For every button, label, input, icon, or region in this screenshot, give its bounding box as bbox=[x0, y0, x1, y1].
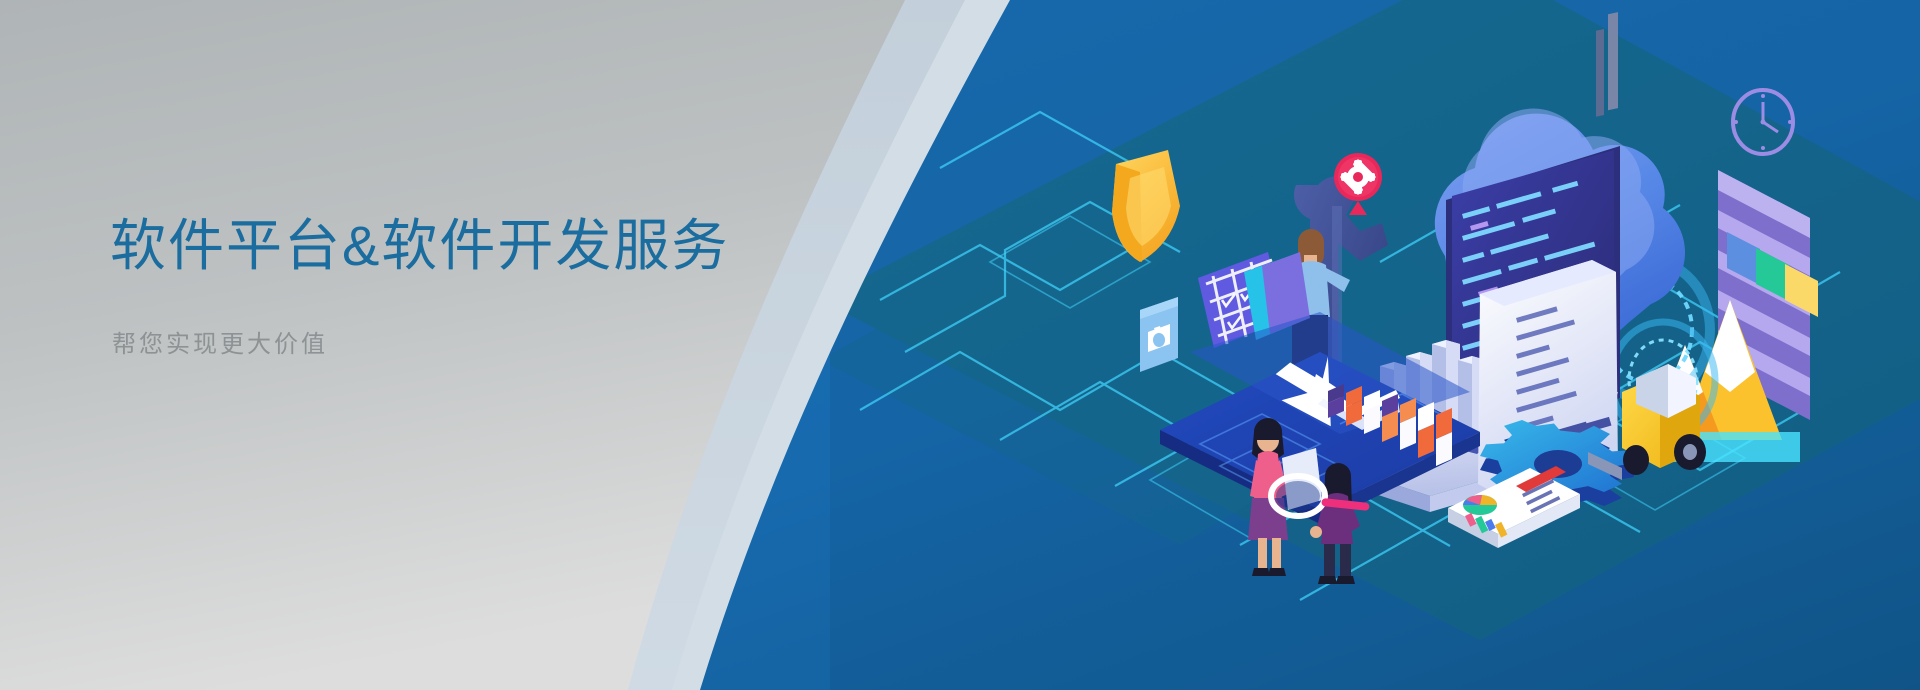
hero-banner: 软件平台&软件开发服务 帮您实现更大价值 bbox=[0, 0, 1920, 690]
banner-text-block: 软件平台&软件开发服务 帮您实现更大价值 bbox=[110, 212, 830, 359]
page-subtitle: 帮您实现更大价值 bbox=[112, 324, 830, 359]
page-title: 软件平台&软件开发服务 bbox=[110, 212, 830, 280]
